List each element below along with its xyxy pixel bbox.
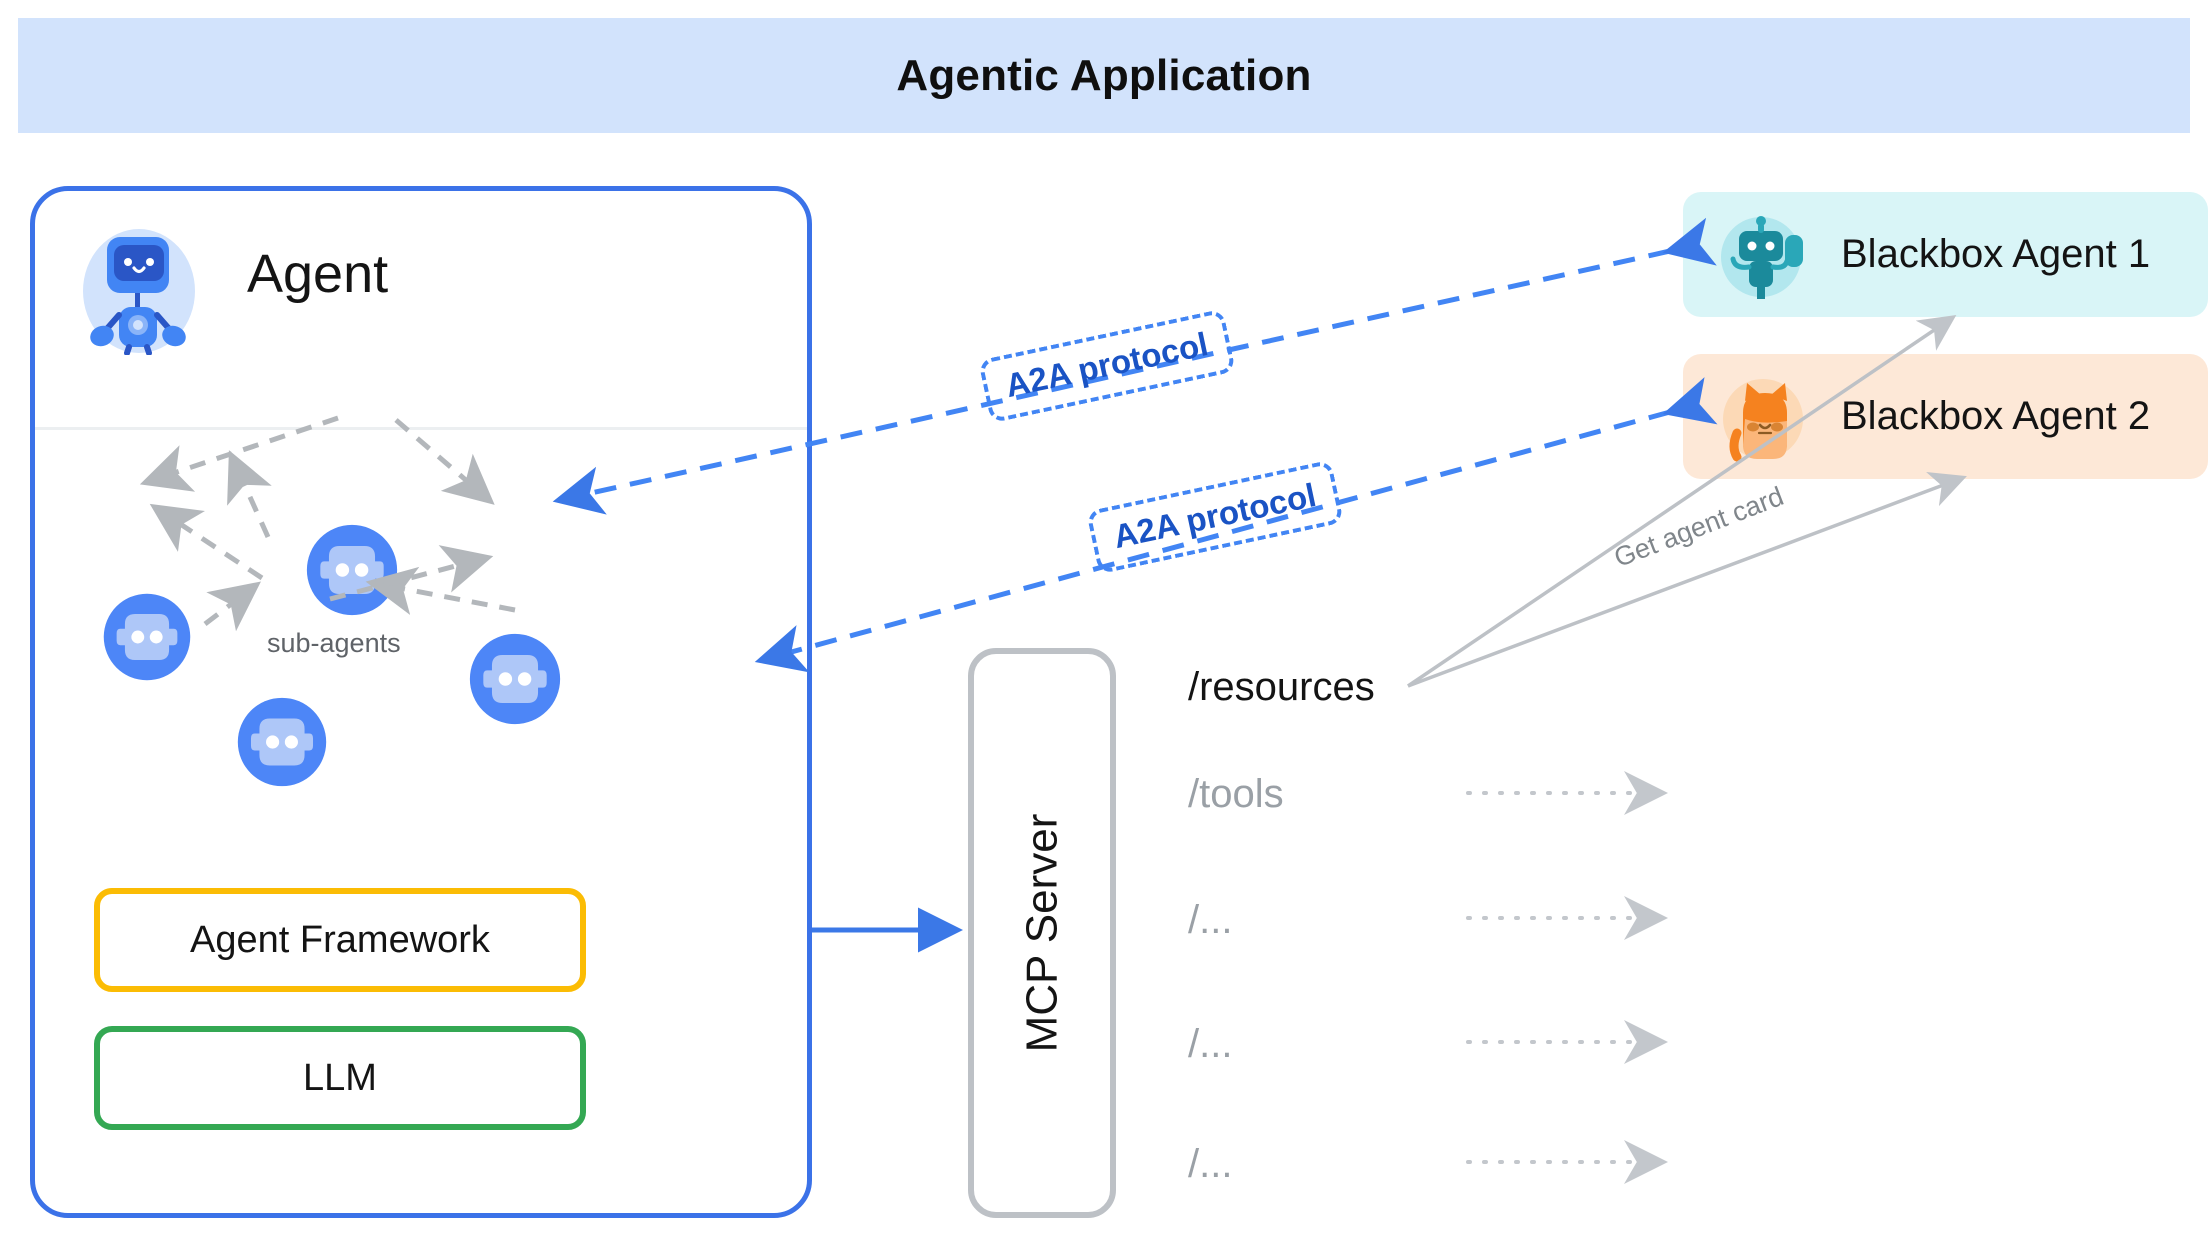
a2a-protocol-chip-1: A2A protocol	[978, 309, 1236, 424]
mcp-server-box[interactable]: MCP Server	[968, 648, 1116, 1218]
endpoint-tools[interactable]: /tools	[1188, 772, 1284, 817]
llm-box[interactable]: LLM	[94, 1026, 586, 1130]
blackbox-agent-2-label: Blackbox Agent 2	[1841, 394, 2150, 439]
mcp-server-label: MCP Server	[1017, 814, 1067, 1053]
agent-title: Agent	[247, 243, 388, 305]
endpoint-other-1[interactable]: /...	[1188, 898, 1232, 943]
sub-agents-label: sub-agents	[267, 628, 401, 659]
sub-agent-node-left[interactable]	[101, 591, 193, 683]
endpoint-resources[interactable]: /resources	[1188, 665, 1375, 710]
get-agent-card-line-2	[1408, 478, 1962, 686]
robot-avatar-icon	[71, 219, 207, 355]
endpoint-other-2[interactable]: /...	[1188, 1022, 1232, 1067]
get-agent-card-label: Get agent card	[1610, 481, 1788, 574]
sub-agent-node-top[interactable]	[304, 522, 400, 618]
diagram-canvas: Agentic Application	[0, 0, 2208, 1250]
agent-card-header: Agent	[35, 191, 807, 423]
sub-agent-node-bottom[interactable]	[235, 695, 329, 789]
sub-agent-node-right[interactable]	[467, 631, 563, 727]
page-title: Agentic Application	[896, 51, 1311, 101]
teal-robot-avatar-icon	[1715, 205, 1815, 305]
a2a-protocol-chip-2: A2A protocol	[1086, 460, 1344, 575]
agent-card: Agent	[30, 186, 812, 1218]
agent-card-divider	[35, 427, 807, 430]
blackbox-agent-1-label: Blackbox Agent 1	[1841, 232, 2150, 277]
header-banner: Agentic Application	[18, 18, 2190, 133]
agent-framework-box[interactable]: Agent Framework	[94, 888, 586, 992]
endpoint-other-3[interactable]: /...	[1188, 1142, 1232, 1187]
blackbox-agent-2-card[interactable]: Blackbox Agent 2	[1683, 354, 2208, 479]
blackbox-agent-1-card[interactable]: Blackbox Agent 1	[1683, 192, 2208, 317]
orange-cat-avatar-icon	[1715, 367, 1815, 467]
